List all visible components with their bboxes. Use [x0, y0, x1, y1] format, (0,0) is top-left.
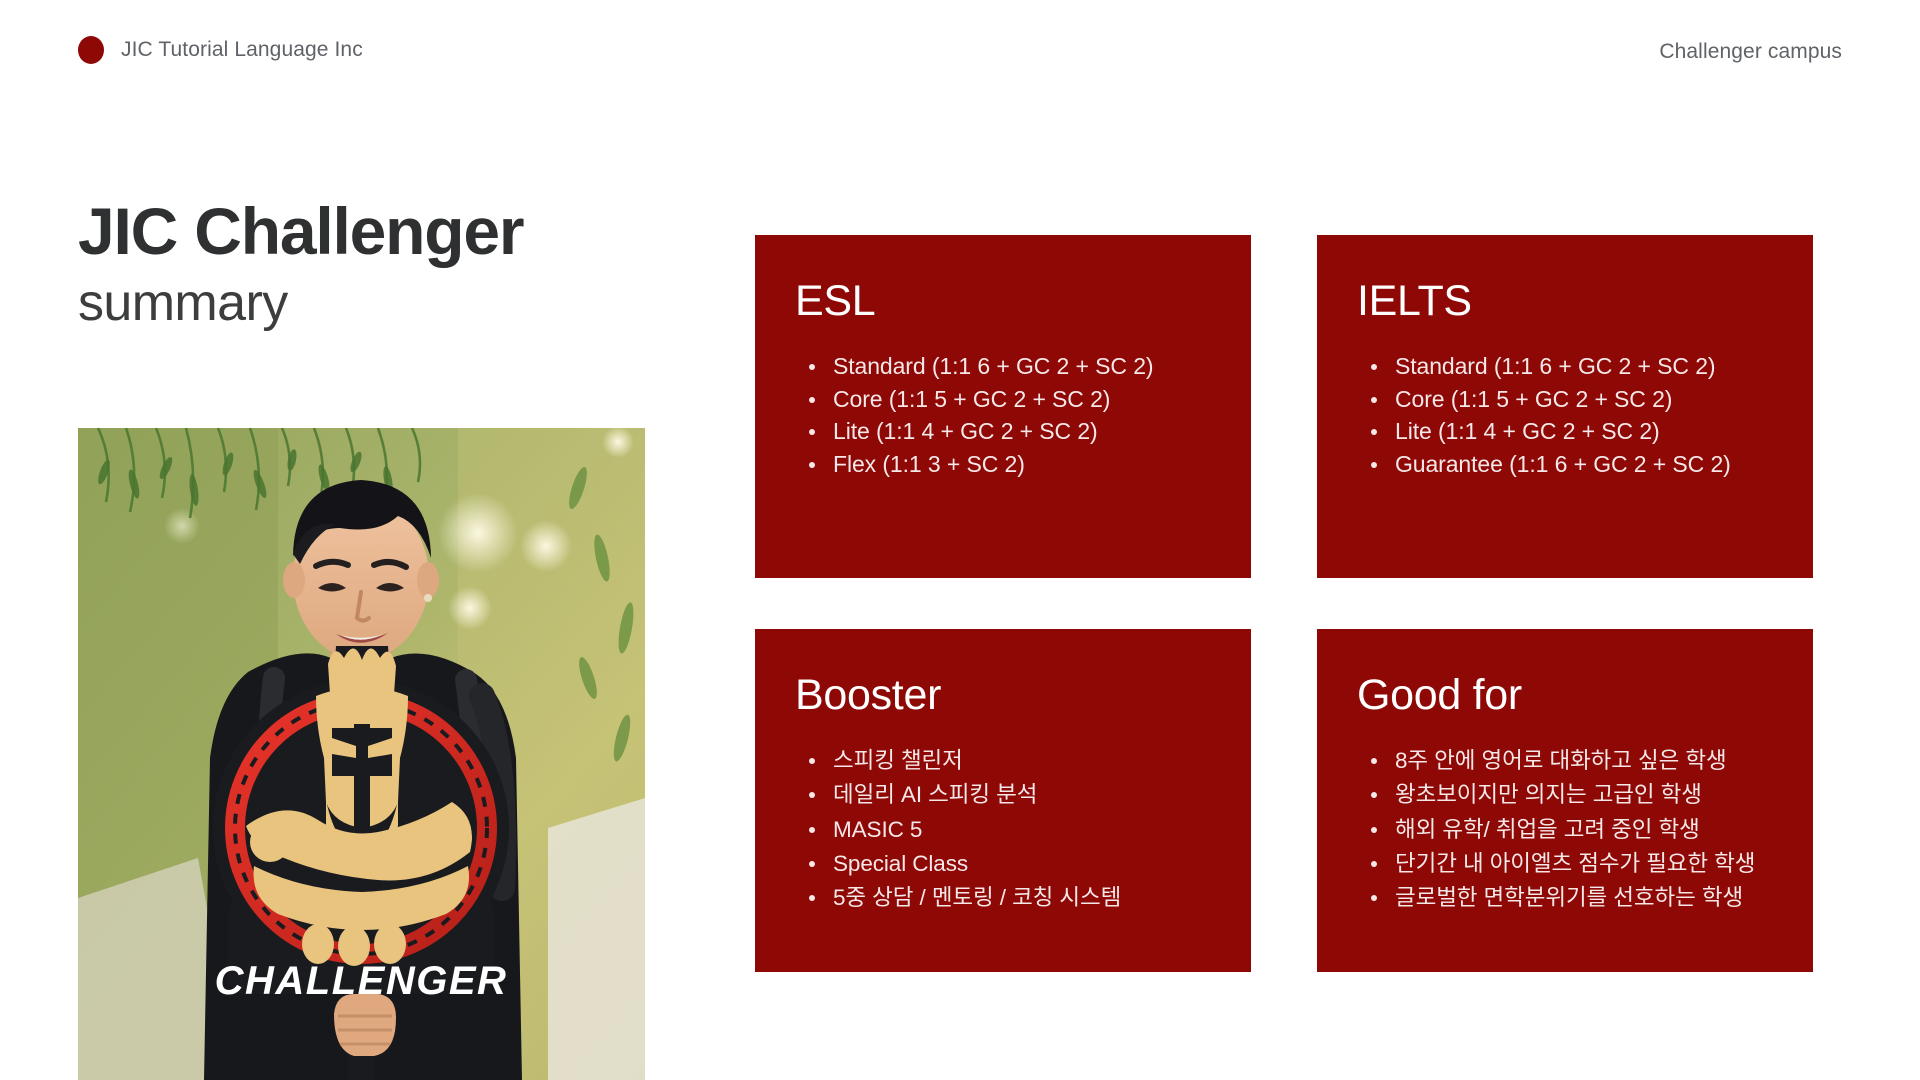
card-booster: Booster 스피킹 챌린저 데일리 AI 스피킹 분석 MASIC 5 Sp… — [755, 629, 1251, 972]
brand: JIC Tutorial Language Inc — [78, 36, 363, 64]
card-title: Booster — [795, 673, 1211, 718]
list-item: 5중 상담 / 멘토링 / 코칭 시스템 — [801, 881, 1211, 915]
list-item: Guarantee (1:1 6 + GC 2 + SC 2) — [1363, 448, 1773, 481]
list-item: Standard (1:1 6 + GC 2 + SC 2) — [801, 350, 1211, 383]
campus-label: Challenger campus — [1659, 40, 1842, 64]
list-item: 데일리 AI 스피킹 분석 — [801, 778, 1211, 812]
page-subtitle: summary — [78, 273, 658, 334]
card-list: 스피킹 챌린저 데일리 AI 스피킹 분석 MASIC 5 Special Cl… — [795, 744, 1211, 915]
card-good-for: Good for 8주 안에 영어로 대화하고 싶은 학생 왕초보이지만 의지는… — [1317, 629, 1813, 972]
list-item: Core (1:1 5 + GC 2 + SC 2) — [801, 383, 1211, 416]
card-esl: ESL Standard (1:1 6 + GC 2 + SC 2) Core … — [755, 235, 1251, 578]
student-photo: CHALLENGER — [78, 428, 645, 1080]
card-list: Standard (1:1 6 + GC 2 + SC 2) Core (1:1… — [1357, 350, 1773, 481]
list-item: Lite (1:1 4 + GC 2 + SC 2) — [1363, 415, 1773, 448]
list-item: Special Class — [801, 847, 1211, 881]
card-ielts: IELTS Standard (1:1 6 + GC 2 + SC 2) Cor… — [1317, 235, 1813, 578]
list-item: Flex (1:1 3 + SC 2) — [801, 448, 1211, 481]
page-title: JIC Challenger — [78, 196, 658, 267]
list-item: Standard (1:1 6 + GC 2 + SC 2) — [1363, 350, 1773, 383]
card-list: 8주 안에 영어로 대화하고 싶은 학생 왕초보이지만 의지는 고급인 학생 해… — [1357, 744, 1773, 915]
list-item: 스피킹 챌린저 — [801, 744, 1211, 778]
card-title: Good for — [1357, 673, 1773, 718]
slide-root: JIC Tutorial Language Inc Challenger cam… — [0, 0, 1920, 1080]
program-card-grid: ESL Standard (1:1 6 + GC 2 + SC 2) Core … — [755, 235, 1813, 972]
card-title: IELTS — [1357, 279, 1773, 324]
list-item: Lite (1:1 4 + GC 2 + SC 2) — [801, 415, 1211, 448]
list-item: 해외 유학/ 취업을 고려 중인 학생 — [1363, 813, 1773, 847]
slide-header: JIC Tutorial Language Inc Challenger cam… — [0, 0, 1920, 100]
hero-text-block: JIC Challenger summary — [78, 196, 658, 335]
list-item: 글로벌한 면학분위기를 선호하는 학생 — [1363, 881, 1773, 915]
list-item: 단기간 내 아이엘츠 점수가 필요한 학생 — [1363, 847, 1773, 881]
brand-name: JIC Tutorial Language Inc — [121, 38, 363, 62]
card-list: Standard (1:1 6 + GC 2 + SC 2) Core (1:1… — [795, 350, 1211, 481]
card-title: ESL — [795, 279, 1211, 324]
brand-circle-icon — [78, 36, 104, 64]
list-item: Core (1:1 5 + GC 2 + SC 2) — [1363, 383, 1773, 416]
list-item: 왕초보이지만 의지는 고급인 학생 — [1363, 778, 1773, 812]
list-item: 8주 안에 영어로 대화하고 싶은 학생 — [1363, 744, 1773, 778]
list-item: MASIC 5 — [801, 813, 1211, 847]
